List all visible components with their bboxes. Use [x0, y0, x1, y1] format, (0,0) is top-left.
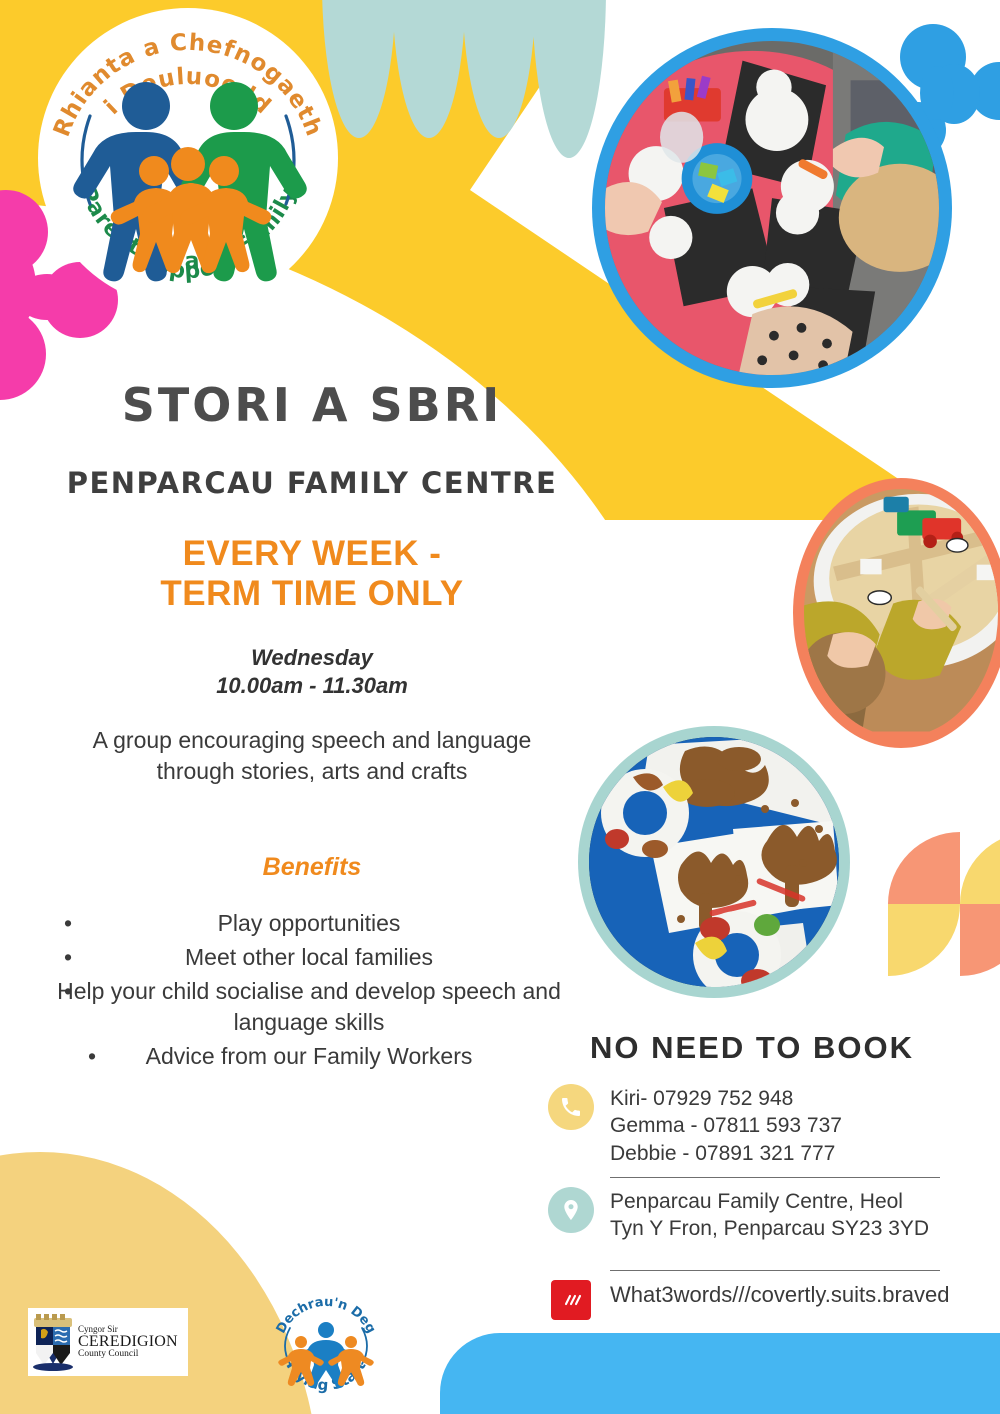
teardrop-shape — [392, 0, 466, 138]
phone-row: Kiri- 07929 752 948 Gemma - 07811 593 73… — [548, 1084, 988, 1167]
ceredigion-crest-icon — [28, 1312, 78, 1372]
page-title: STORI A SBRI — [42, 378, 582, 432]
location-pin-icon — [548, 1187, 594, 1233]
description-text: A group encouraging speech and language … — [42, 725, 582, 787]
benefit-label: Play opportunities — [218, 910, 401, 936]
day-time-block: Wednesday 10.00am - 11.30am — [42, 644, 582, 701]
divider — [610, 1177, 940, 1178]
benefit-label: Meet other local families — [185, 944, 433, 970]
phone-contact: Kiri- 07929 752 948 — [610, 1085, 842, 1112]
venue-subtitle: PENPARCAU FAMILY CENTRE — [42, 466, 582, 500]
list-item: • Advice from our Family Workers — [42, 1041, 582, 1073]
time-label: 10.00am - 11.30am — [42, 672, 582, 701]
what3words-row: What3words///covertly.suits.braved — [548, 1280, 988, 1320]
blue-bottom-bar — [440, 1333, 1000, 1414]
frequency-line-2: TERM TIME ONLY — [42, 574, 582, 614]
teardrop-shape — [532, 0, 606, 158]
phone-contact: Debbie - 07891 321 777 — [610, 1140, 842, 1167]
contact-block: NO NEED TO BOOK Kiri- 07929 752 948 Gemm… — [548, 1030, 988, 1324]
bullet-icon: • — [64, 908, 72, 940]
photo-sand-tray-play — [793, 478, 1000, 748]
teardrop-shape — [462, 0, 536, 138]
flying-start-logo: Dechrau'n Deg Flying Start — [268, 1290, 384, 1398]
frequency-line-1: EVERY WEEK - — [42, 534, 582, 574]
poster-canvas: Rhianta a Chefnogaeth i Deuluoedd Parent… — [0, 0, 1000, 1414]
address-text: Penparcau Family Centre, Heol Tyn Y Fron… — [610, 1187, 929, 1243]
phone-numbers: Kiri- 07929 752 948 Gemma - 07811 593 73… — [610, 1084, 842, 1167]
frequency-text: EVERY WEEK - TERM TIME ONLY — [42, 534, 582, 614]
list-item: • Play opportunities — [42, 908, 582, 940]
day-label: Wednesday — [42, 644, 582, 673]
divider — [610, 1270, 940, 1271]
bullet-icon: • — [64, 942, 72, 974]
council-name-label: CEREDIGION — [78, 1334, 178, 1350]
bullet-icon: • — [64, 976, 72, 1008]
phone-contact: Gemma - 07811 593 737 — [610, 1112, 842, 1139]
benefit-label: Help your child socialise and develop sp… — [57, 978, 561, 1036]
list-item: • Meet other local families — [42, 942, 582, 974]
address-line-2: Tyn Y Fron, Penparcau SY23 3YD — [610, 1215, 929, 1242]
benefits-heading: Benefits — [42, 853, 582, 882]
main-content-column: STORI A SBRI PENPARCAU FAMILY CENTRE EVE… — [42, 378, 582, 1075]
list-item: • Help your child socialise and develop … — [42, 976, 582, 1039]
s-arc-decoration-group — [888, 832, 1000, 982]
address-row: Penparcau Family Centre, Heol Tyn Y Fron… — [548, 1187, 988, 1243]
ceredigion-council-logo: Cyngor Sir CEREDIGION County Council — [28, 1308, 188, 1376]
what3words-text: What3words///covertly.suits.braved — [610, 1280, 950, 1310]
benefit-label: Advice from our Family Workers — [146, 1043, 473, 1069]
council-text: Cyngor Sir CEREDIGION County Council — [78, 1325, 178, 1360]
phone-icon — [548, 1084, 594, 1130]
bullet-icon: • — [88, 1041, 96, 1073]
what3words-icon — [551, 1280, 591, 1320]
parenting-family-support-logo: Rhianta a Chefnogaeth i Deuluoedd Parent… — [38, 8, 338, 308]
council-english-label: County Council — [78, 1350, 178, 1360]
photo-children-crafts — [592, 28, 952, 388]
benefits-list: • Play opportunities • Meet other local … — [42, 908, 582, 1073]
no-need-to-book-heading: NO NEED TO BOOK — [590, 1030, 988, 1066]
photo-handprint-painting — [578, 726, 850, 998]
address-line-1: Penparcau Family Centre, Heol — [610, 1188, 929, 1215]
